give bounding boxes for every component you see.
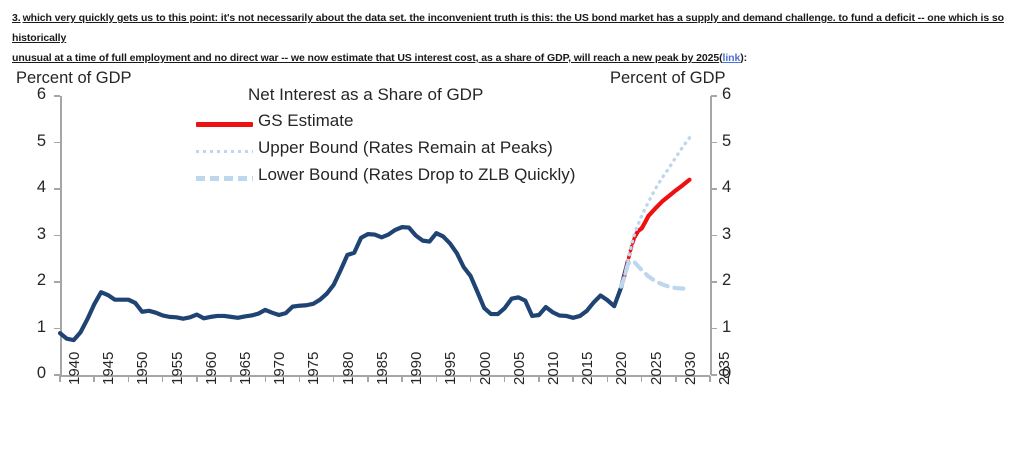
series-line-history [60,227,628,340]
chart-area: Percent of GDP Percent of GDP Net Intere… [0,60,1024,457]
series-line-upper-bound [621,138,689,287]
chart-plot [0,60,1024,457]
series-line-lower-bound [621,261,689,289]
note-number: 3. [12,12,21,24]
series-line-gs-estimate [635,180,690,237]
note-paragraph: 3.which very quickly gets us to this poi… [12,8,1012,68]
note-line-1: which very quickly gets us to this point… [12,12,1004,44]
